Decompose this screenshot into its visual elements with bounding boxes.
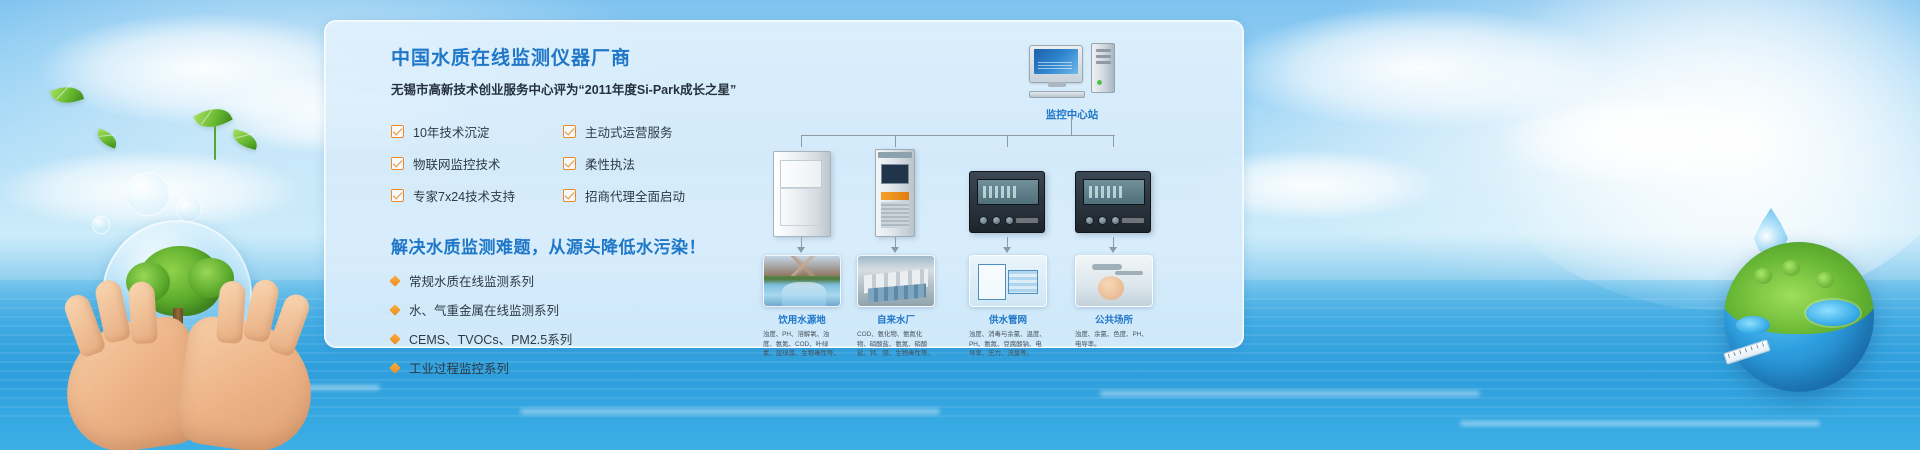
wave-highlight <box>1100 391 1480 396</box>
card-caption: 饮用水源地 <box>763 312 841 326</box>
diamond-bullet-icon <box>389 304 400 315</box>
card-description: COD、氨化物、氨氮化物、硝酸盐、氨氮、硝酸盐、钙、镁、生物毒性等。 <box>857 330 935 359</box>
application-card: 饮用水源地 浊度、PH、溶解氧、浊度、氨氮、COD、叶绿素、蓝绿藻、生物毒性等。 <box>763 255 841 359</box>
checkbox-checked-icon <box>563 157 576 170</box>
leaf-icon <box>50 82 84 108</box>
diamond-bullet-icon <box>389 275 400 286</box>
feature-item: 招商代理全面启动 <box>563 186 751 205</box>
arrow-down-icon <box>1109 247 1117 253</box>
application-card: 供水管网 浊度、消毒与余氯、温度、PH、氨氮、豆腐酸钠、电导率、压力、流量等。 <box>969 255 1047 359</box>
product-series-list: 常规水质在线监测系列 水、气重金属在线监测系列 CEMS、TVOCs、PM2.5… <box>391 271 751 377</box>
instrument-row <box>755 145 1225 237</box>
instrument-analyzer-cabinet <box>875 149 915 237</box>
list-item: CEMS、TVOCs、PM2.5系列 <box>391 329 751 348</box>
leaf-icon <box>94 128 119 148</box>
feature-label: 专家7x24技术支持 <box>413 186 515 205</box>
cloud-decoration <box>1230 8 1610 128</box>
feature-label: 主动式运营服务 <box>585 122 673 141</box>
instrument-water-cabinet <box>773 151 831 237</box>
arrow-down-icon <box>797 247 805 253</box>
keyboard-icon <box>1029 91 1085 98</box>
list-item-label: CEMS、TVOCs、PM2.5系列 <box>409 329 572 348</box>
feature-item: 柔性执法 <box>563 154 751 173</box>
pc-tower-icon <box>1091 43 1115 93</box>
page-subtitle: 无锡市高新技术创业服务中心评为“2011年度Si-Park成长之星” <box>391 79 751 98</box>
monitoring-center-node: 监控中心站 <box>1027 43 1117 122</box>
feature-label: 物联网监控技术 <box>413 154 501 173</box>
monitoring-center-label: 监控中心站 <box>1027 107 1117 122</box>
system-diagram: 监控中心站 <box>755 33 1225 343</box>
feature-item: 主动式运营服务 <box>563 122 751 141</box>
photo-water-pipeline <box>969 255 1047 307</box>
wave-highlight <box>1460 421 1820 426</box>
photo-public-place <box>1075 255 1153 307</box>
feature-item: 10年技术沉淀 <box>391 122 563 141</box>
sprout-stem <box>214 126 216 160</box>
application-card: 自来水厂 COD、氨化物、氨氮化物、硝酸盐、氨氮、硝酸盐、钙、镁、生物毒性等。 <box>857 255 935 359</box>
list-item-label: 常规水质在线监测系列 <box>409 271 534 290</box>
feature-label: 10年技术沉淀 <box>413 122 489 141</box>
page-title: 中国水质在线监测仪器厂商 <box>391 43 751 70</box>
instrument-controller-1 <box>969 171 1045 233</box>
banner-root: 中国水质在线监测仪器厂商 无锡市高新技术创业服务中心评为“2011年度Si-Pa… <box>0 0 1920 450</box>
section-headline: 解决水质监测难题，从源头降低水污染！ <box>391 233 751 258</box>
connector-bus <box>801 135 1115 136</box>
checkbox-checked-icon <box>563 125 576 138</box>
hands-holding-tree <box>60 210 320 450</box>
card-description: 浊度、消毒与余氯、温度、PH、氨氮、豆腐酸钠、电导率、压力、流量等。 <box>969 330 1047 359</box>
feature-label: 招商代理全面启动 <box>585 186 685 205</box>
list-item: 常规水质在线监测系列 <box>391 271 751 290</box>
cloud-decoration <box>1500 96 1800 186</box>
list-item: 工业过程监控系列 <box>391 358 751 377</box>
computer-icon <box>1029 43 1115 95</box>
checkbox-checked-icon <box>391 125 404 138</box>
eco-globe <box>1724 242 1874 392</box>
arrow-down-icon <box>891 247 899 253</box>
card-description: 浊度、余氯、色度、PH、电导率。 <box>1075 330 1153 349</box>
application-card: 公共场所 浊度、余氯、色度、PH、电导率。 <box>1075 255 1153 349</box>
feature-item: 物联网监控技术 <box>391 154 563 173</box>
arrow-down-icon <box>1003 247 1011 253</box>
feature-item: 专家7x24技术支持 <box>391 186 563 205</box>
checkbox-checked-icon <box>391 189 404 202</box>
card-caption: 公共场所 <box>1075 312 1153 326</box>
monitor-icon <box>1029 45 1083 83</box>
list-item-label: 工业过程监控系列 <box>409 358 509 377</box>
cloud-decoration <box>40 14 370 124</box>
wave-highlight <box>520 409 940 414</box>
diamond-bullet-icon <box>389 333 400 344</box>
photo-water-plant <box>857 255 935 307</box>
connector-line <box>1071 117 1072 135</box>
feature-list: 10年技术沉淀 主动式运营服务 物联网监控技术 柔性执法 专家7x24技术支持 <box>391 122 751 205</box>
leaf-icon <box>193 102 232 135</box>
diamond-bullet-icon <box>389 362 400 373</box>
card-caption: 供水管网 <box>969 312 1047 326</box>
photo-drinking-water-source <box>763 255 841 307</box>
card-caption: 自来水厂 <box>857 312 935 326</box>
instrument-controller-2 <box>1075 171 1151 233</box>
list-item-label: 水、气重金属在线监测系列 <box>409 300 559 319</box>
feature-label: 柔性执法 <box>585 154 635 173</box>
list-item: 水、气重金属在线监测系列 <box>391 300 751 319</box>
text-column: 中国水质在线监测仪器厂商 无锡市高新技术创业服务中心评为“2011年度Si-Pa… <box>391 43 751 387</box>
checkbox-checked-icon <box>563 189 576 202</box>
card-description: 浊度、PH、溶解氧、浊度、氨氮、COD、叶绿素、蓝绿藻、生物毒性等。 <box>763 330 841 359</box>
leaf-icon <box>231 129 260 150</box>
checkbox-checked-icon <box>391 157 404 170</box>
content-panel: 中国水质在线监测仪器厂商 无锡市高新技术创业服务中心评为“2011年度Si-Pa… <box>324 20 1244 348</box>
hand-right <box>174 314 321 450</box>
